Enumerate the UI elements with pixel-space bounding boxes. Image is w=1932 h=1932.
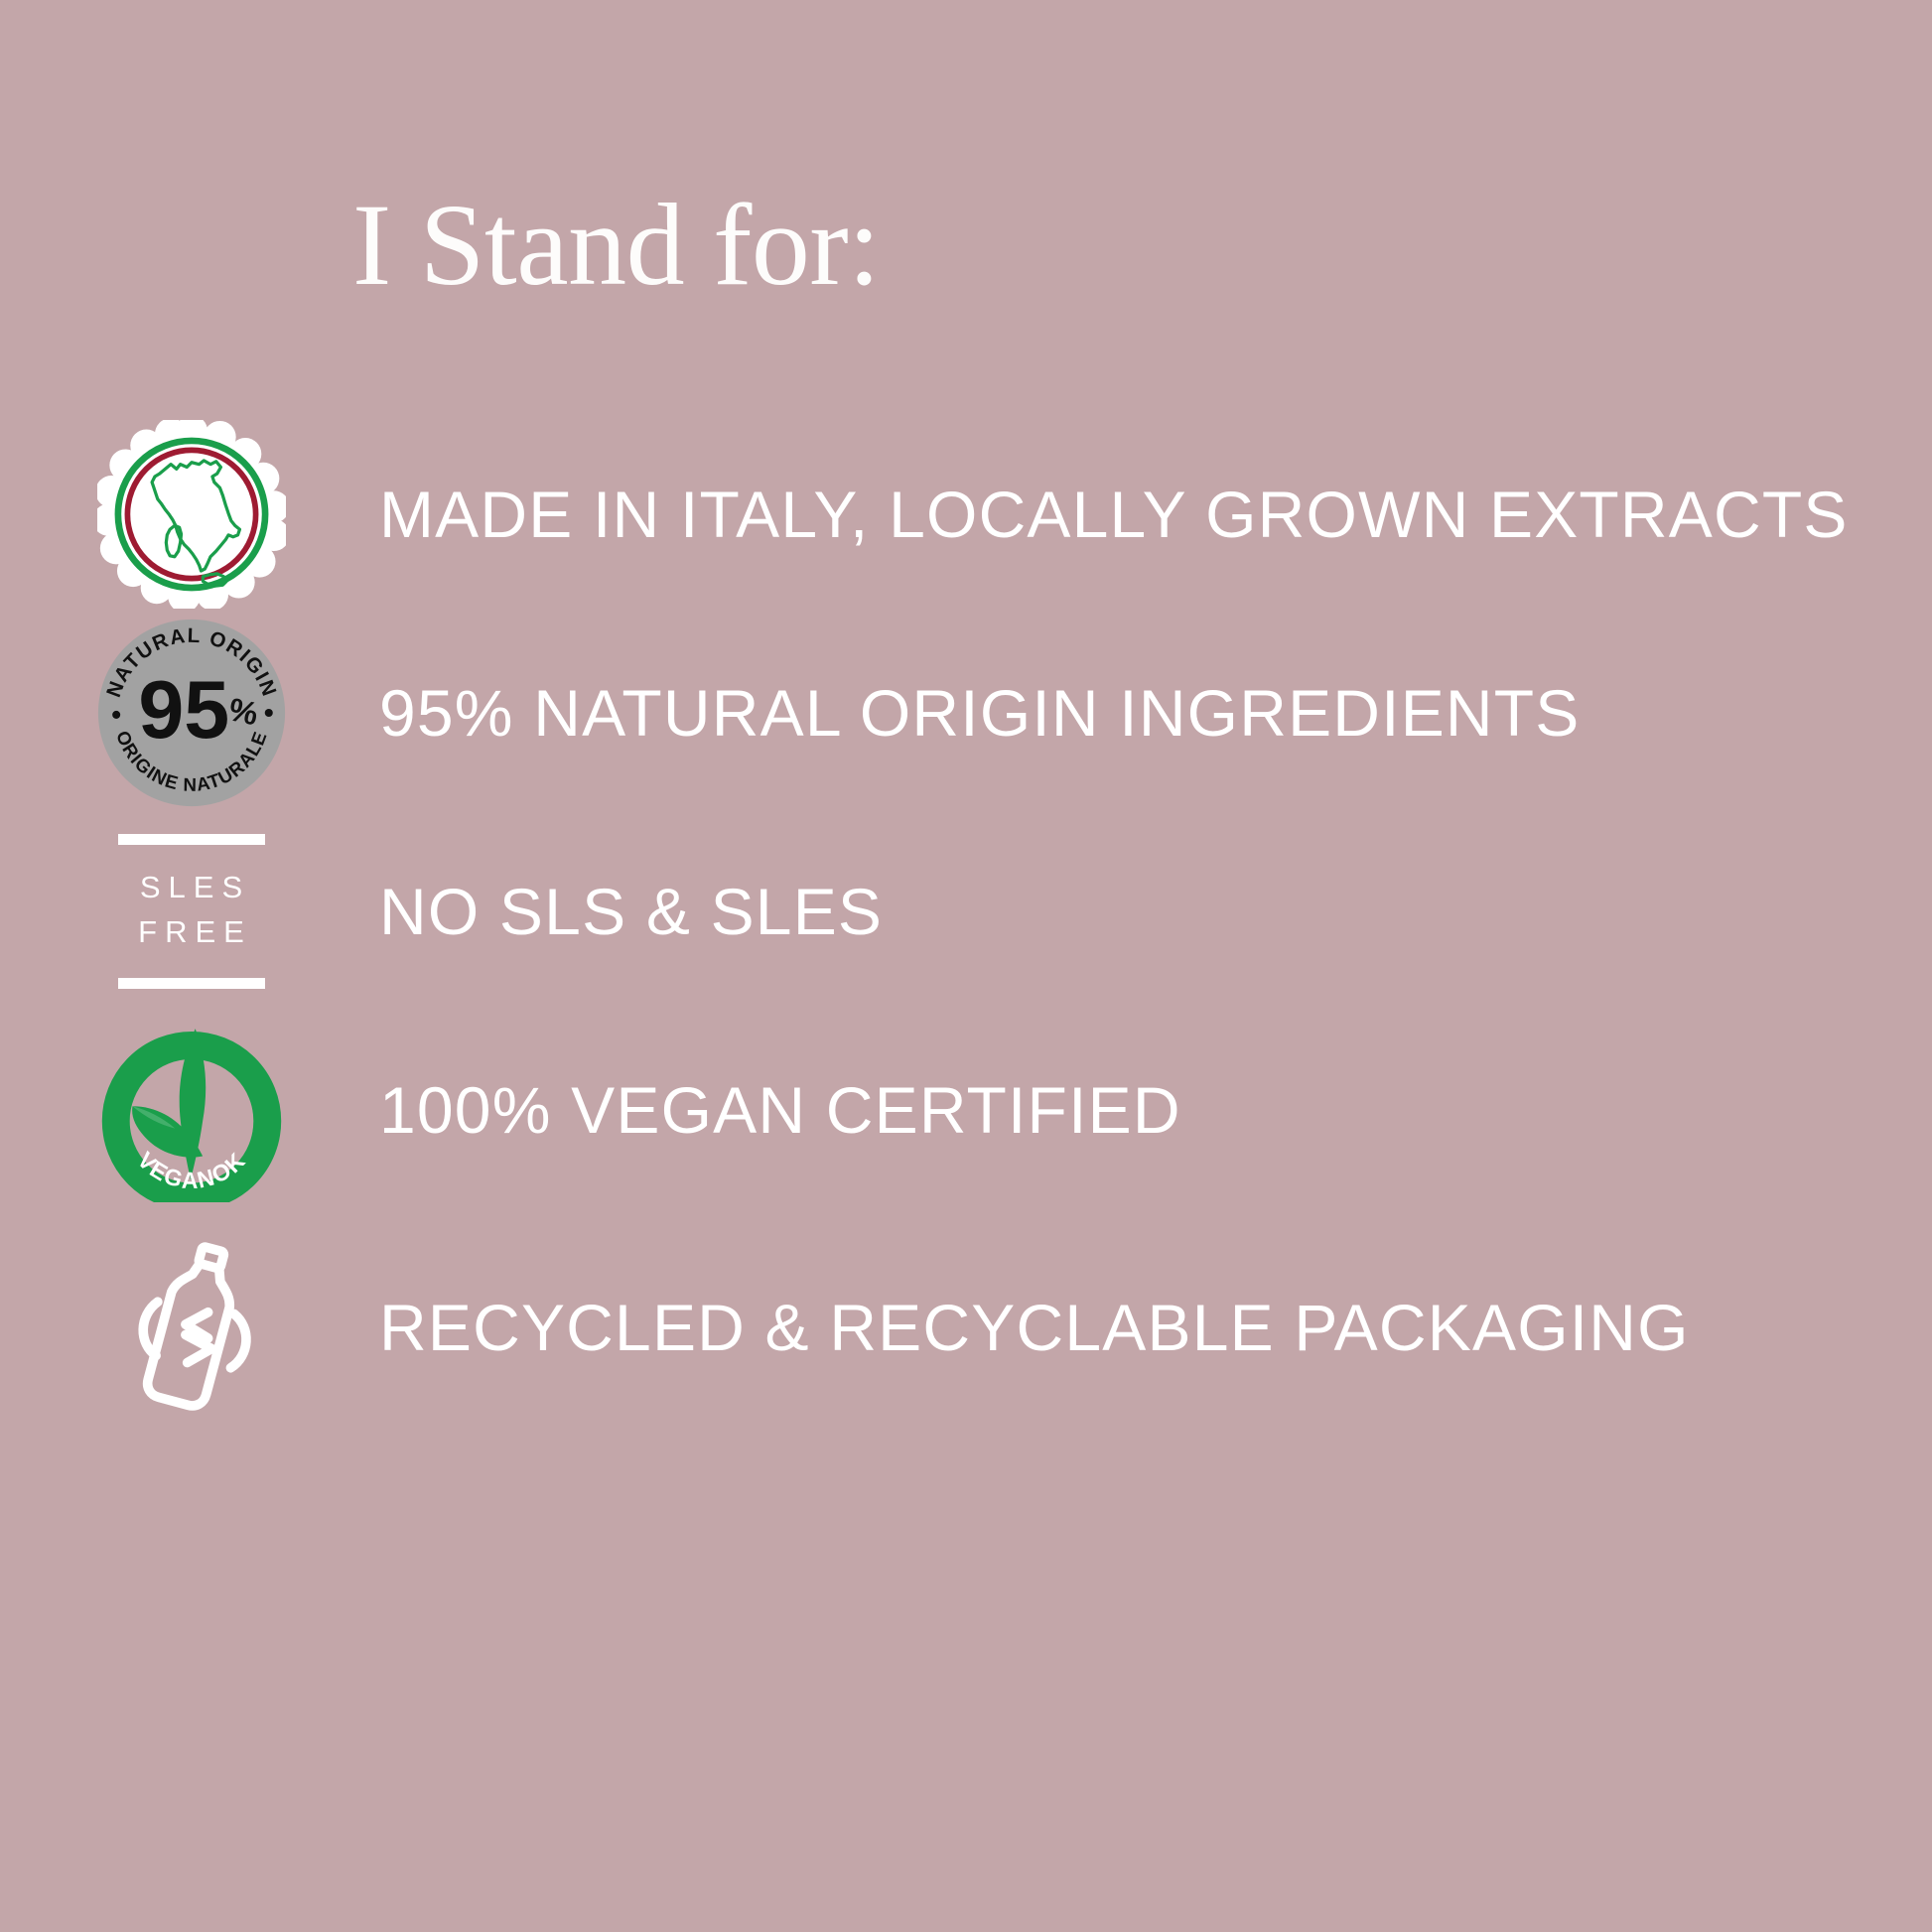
claim-row-recycled-packaging: RECYCLED & RECYCLABLE PACKAGING — [94, 1228, 1881, 1427]
veganok-badge: VEGANOK — [99, 1018, 284, 1202]
recycled-bottle-icon — [117, 1241, 266, 1415]
badge-slot-natural-origin: NATURAL ORIGIN ORIGINE NATURALE 95 % — [94, 614, 288, 812]
percentage-value: 95 — [138, 664, 229, 756]
dot-left-icon — [112, 711, 120, 719]
claim-row-vegan-certified: VEGANOK 100% VEGAN CERTIFIED — [94, 1011, 1881, 1209]
sles-rule-top — [118, 834, 265, 845]
claim-label-sles-free: NO SLS & SLES — [379, 874, 883, 949]
claim-label-natural-origin: 95% NATURAL ORIGIN INGREDIENTS — [379, 675, 1581, 751]
sles-free-badge: SLES FREE — [116, 834, 267, 990]
dot-right-icon — [264, 709, 272, 717]
claim-row-natural-origin: NATURAL ORIGIN ORIGINE NATURALE 95 % 95%… — [94, 614, 1881, 812]
claim-label-recycled-packaging: RECYCLED & RECYCLABLE PACKAGING — [379, 1290, 1690, 1365]
sles-free-text: SLES FREE — [130, 845, 252, 979]
sles-rule-bottom — [118, 978, 265, 989]
badge-slot-recycled — [94, 1228, 288, 1427]
sles-line-2: FREE — [130, 910, 252, 955]
made-in-italy-badge — [97, 420, 286, 609]
page-title: I Stand for: — [352, 184, 880, 307]
claim-row-sles-free: SLES FREE NO SLS & SLES — [94, 812, 1881, 1011]
natural-origin-badge: NATURAL ORIGIN ORIGINE NATURALE 95 % — [96, 618, 287, 808]
poster-canvas: I Stand for: — [0, 0, 1932, 1932]
badge-slot-made-in-italy — [94, 415, 288, 614]
sles-line-1: SLES — [130, 866, 252, 910]
claim-label-vegan-certified: 100% VEGAN CERTIFIED — [379, 1072, 1181, 1148]
badge-slot-vegan: VEGANOK — [94, 1011, 288, 1209]
claim-row-made-in-italy: MADE IN ITALY, LOCALLY GROWN EXTRACTS — [94, 415, 1881, 614]
claim-label-made-in-italy: MADE IN ITALY, LOCALLY GROWN EXTRACTS — [379, 477, 1849, 552]
badge-slot-sles-free: SLES FREE — [94, 812, 288, 1011]
